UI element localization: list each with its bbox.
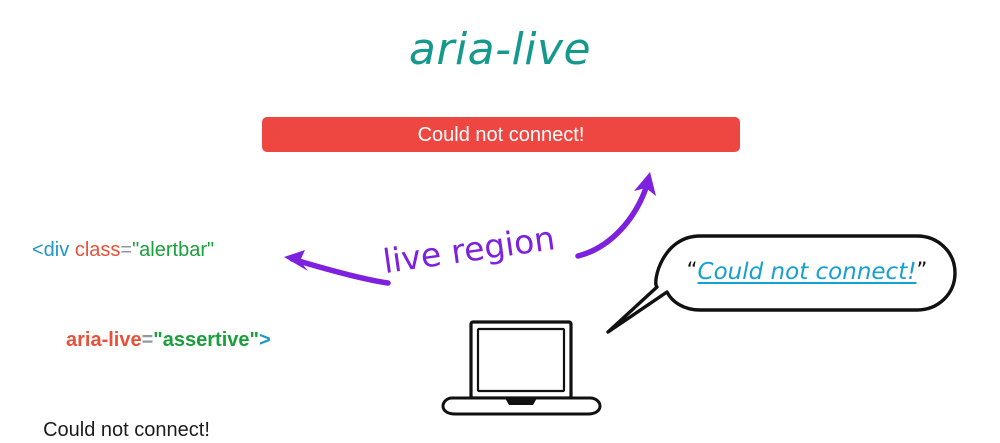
code-token-attribute: aria-live xyxy=(66,329,142,351)
close-quote: ” xyxy=(916,258,927,282)
code-snippet: <div class="alertbar" aria-live="asserti… xyxy=(32,175,271,443)
code-line: aria-live="assertive"> xyxy=(32,325,271,355)
code-token-value: "alertbar" xyxy=(132,239,214,261)
arrow-left-icon xyxy=(284,250,388,283)
arrow-curve-up-right-icon xyxy=(578,172,656,256)
code-line: Could not connect! xyxy=(32,415,271,443)
alert-bar-message: Could not connect! xyxy=(418,125,585,145)
laptop-icon xyxy=(443,322,600,414)
live-region-annotation-label: live region xyxy=(381,218,558,281)
alert-bar: Could not connect! xyxy=(262,117,740,152)
open-quote: “ xyxy=(687,258,698,282)
code-token-equals: = xyxy=(142,329,154,351)
code-line: <div class="alertbar" xyxy=(32,235,271,265)
code-token-text: Could not connect! xyxy=(32,419,210,441)
code-token-equals: = xyxy=(120,239,132,261)
code-token-tag: > xyxy=(259,329,271,351)
diagram-canvas: aria-live Could not connect! <div class=… xyxy=(0,0,1000,443)
code-token-attribute: class xyxy=(75,239,121,261)
spoken-phrase: Could not connect! xyxy=(698,259,917,285)
code-token-value: "assertive" xyxy=(153,329,259,351)
page-title: aria-live xyxy=(0,24,1000,75)
code-token-tag: <div xyxy=(32,239,75,261)
speech-bubble-text: “Could not connect!” xyxy=(682,258,932,285)
